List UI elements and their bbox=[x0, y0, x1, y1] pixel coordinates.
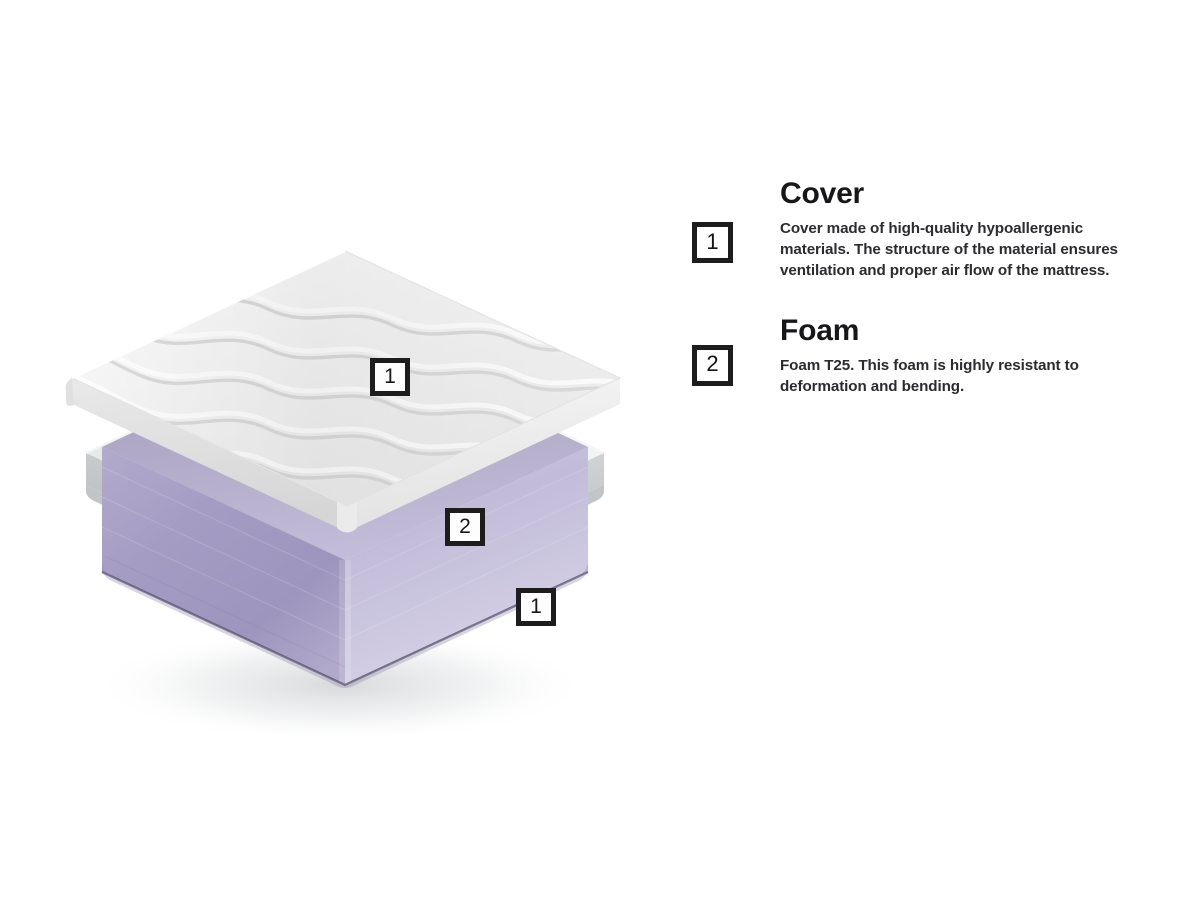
legend-body: Foam Foam T25. This foam is highly resis… bbox=[780, 315, 1160, 397]
legend-number: 1 bbox=[706, 231, 718, 253]
legend-number-badge-2: 2 bbox=[692, 345, 733, 386]
legend-number-badge-1: 1 bbox=[692, 222, 733, 263]
callout-badge-foam: 2 bbox=[445, 508, 485, 546]
legend-entry-cover: 1 Cover Cover made of high-quality hypoa… bbox=[690, 178, 1160, 281]
page-root: 1 2 1 1 Cover Cover made of high-quality… bbox=[0, 0, 1200, 899]
legend-entry-foam: 2 Foam Foam T25. This foam is highly res… bbox=[690, 315, 1160, 397]
legend-number: 2 bbox=[706, 353, 718, 375]
callout-number: 1 bbox=[384, 366, 396, 387]
callout-number: 1 bbox=[530, 596, 542, 617]
exploded-mattress-illustration bbox=[40, 215, 660, 735]
callout-badge-cover-top: 1 bbox=[370, 358, 410, 396]
legend-panel: 1 Cover Cover made of high-quality hypoa… bbox=[690, 178, 1160, 417]
legend-description-foam: Foam T25. This foam is highly resistant … bbox=[780, 355, 1150, 397]
legend-body: Cover Cover made of high-quality hypoall… bbox=[780, 178, 1160, 281]
legend-title-foam: Foam bbox=[780, 315, 1160, 347]
legend-title-cover: Cover bbox=[780, 178, 1160, 210]
callout-number: 2 bbox=[459, 516, 471, 537]
callout-badge-cover-base: 1 bbox=[516, 588, 556, 626]
legend-description-cover: Cover made of high-quality hypoallergeni… bbox=[780, 218, 1150, 281]
